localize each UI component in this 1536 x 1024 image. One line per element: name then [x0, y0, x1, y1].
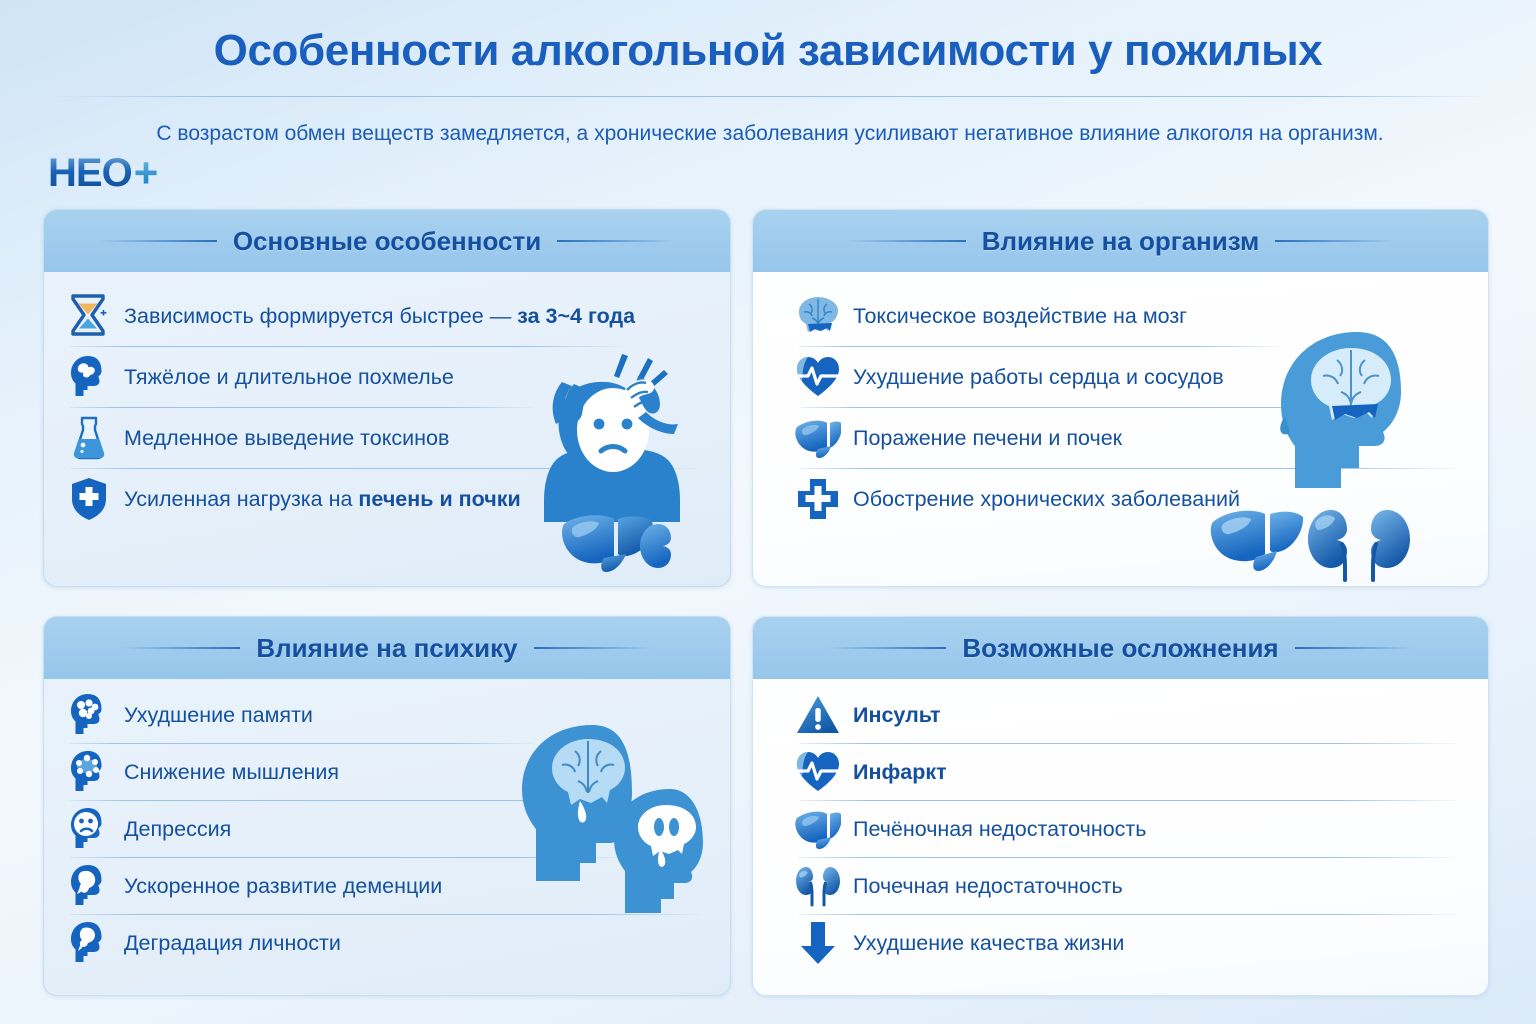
- list-item-label: Печёночная недостаточность: [853, 817, 1146, 842]
- header-rule-right: [534, 647, 652, 649]
- list-item[interactable]: Ускоренное развитие деменции: [66, 858, 708, 914]
- liver-icon: [795, 415, 841, 461]
- list-item[interactable]: Поражение печени и почек: [795, 408, 1466, 468]
- list-item-label: Тяжёлое и длительное похмелье: [124, 365, 454, 390]
- list-item-label: Токсическое воздействие на мозг: [853, 304, 1187, 329]
- list-item-label: Усиленная нагрузка на печень и почки: [124, 487, 521, 512]
- card-title: Возможные осложнения: [962, 633, 1278, 664]
- head-thinking-icon: [66, 749, 112, 795]
- header-rule-left: [848, 240, 966, 242]
- logo-plus-icon: +: [134, 152, 159, 194]
- list-item-label: Ухудшение работы сердца и сосудов: [853, 365, 1224, 390]
- card-header: Влияние на организм: [753, 210, 1488, 272]
- card-vozmozhnye-oslozhneniya: Возможные осложнения: [752, 616, 1489, 996]
- brain-icon: [795, 293, 841, 339]
- list-item[interactable]: Инфаркт: [795, 744, 1466, 800]
- list-item[interactable]: Усиленная нагрузка на печень и почки: [66, 469, 708, 529]
- list-item-label: Инсульт: [853, 703, 941, 728]
- title-divider: [48, 96, 1488, 97]
- card-vliyanie-na-psihiku: Влияние на психику Ухудшение памяти: [43, 616, 731, 996]
- head-dementia-icon: [66, 863, 112, 909]
- logo-text: HEO: [48, 153, 132, 193]
- header-rule-right: [1275, 240, 1393, 242]
- list-item-label: Ускоренное развитие деменции: [124, 874, 442, 899]
- card-title: Влияние на психику: [256, 633, 517, 664]
- card-title: Влияние на организм: [982, 226, 1259, 257]
- card-title: Основные особенности: [233, 226, 541, 257]
- header-rule-left: [99, 240, 217, 242]
- list-item-label: Поражение печени и почек: [853, 426, 1122, 451]
- list-item-label: Медленное выведение токсинов: [124, 426, 449, 451]
- card-vliyanie-na-organizm: Влияние на организм Токсическо: [752, 209, 1489, 587]
- head-degradation-icon: [66, 920, 112, 966]
- list-item[interactable]: Инсульт: [795, 687, 1466, 743]
- list-item-label: Обострение хронических заболеваний: [853, 487, 1240, 512]
- header-rule-left: [122, 647, 240, 649]
- list-item[interactable]: Депрессия: [66, 801, 708, 857]
- list-item[interactable]: Токсическое воздействие на мозг: [795, 286, 1466, 346]
- down-arrow-icon: [795, 920, 841, 966]
- header-rule-left: [828, 647, 946, 649]
- header-rule-right: [557, 240, 675, 242]
- list-item[interactable]: Обострение хронических заболеваний: [795, 469, 1466, 529]
- page-title: Особенности алкогольной зависимости у по…: [0, 26, 1536, 76]
- cross-badge-icon: [795, 476, 841, 522]
- card-header: Влияние на психику: [44, 617, 730, 679]
- list-item-label: Снижение мышления: [124, 760, 339, 785]
- brand-logo: HEO +: [48, 150, 208, 196]
- list-item[interactable]: Ухудшение качества жизни: [795, 915, 1466, 971]
- head-sad-icon: [66, 806, 112, 852]
- list-item-label: Ухудшение качества жизни: [853, 931, 1124, 956]
- list-item-label: Инфаркт: [853, 760, 947, 785]
- card-body: Токсическое воздействие на мозг Ухудшени…: [753, 272, 1488, 539]
- list-item[interactable]: Печёночная недостаточность: [795, 801, 1466, 857]
- list-item-label: Почечная недостаточность: [853, 874, 1123, 899]
- heart-pulse-icon: [795, 749, 841, 795]
- warning-triangle-icon: [795, 692, 841, 738]
- list-item-label: Депрессия: [124, 817, 231, 842]
- infographic-page: Особенности алкогольной зависимости у по…: [0, 0, 1536, 1024]
- list-item[interactable]: Медленное выведение токсинов: [66, 408, 708, 468]
- kidneys-icon: [795, 863, 841, 909]
- shield-cross-icon: [66, 476, 112, 522]
- card-header: Основные особенности: [44, 210, 730, 272]
- list-item[interactable]: Ухудшение памяти: [66, 687, 708, 743]
- list-item[interactable]: Деградация личности: [66, 915, 708, 971]
- hourglass-icon: [66, 293, 112, 339]
- list-item[interactable]: Тяжёлое и длительное похмелье: [66, 347, 708, 407]
- liver-icon: [795, 806, 841, 852]
- card-body: Ухудшение памяти Снижение мышлени: [44, 679, 730, 981]
- list-item[interactable]: Зависимость формируется быстрее — за 3~4…: [66, 286, 708, 346]
- card-body: Инсульт Инфаркт: [753, 679, 1488, 981]
- card-header: Возможные осложнения: [753, 617, 1488, 679]
- flask-icon: [66, 415, 112, 461]
- list-item[interactable]: Снижение мышления: [66, 744, 708, 800]
- card-osnovnye-osobennosti: Основные особенности Зависимость формиру…: [43, 209, 731, 587]
- list-item[interactable]: Ухудшение работы сердца и сосудов: [795, 347, 1466, 407]
- heart-pulse-icon: [795, 354, 841, 400]
- head-memory-icon: [66, 692, 112, 738]
- header-rule-right: [1295, 647, 1413, 649]
- list-item[interactable]: Почечная недостаточность: [795, 858, 1466, 914]
- list-item-label: Деградация личности: [124, 931, 341, 956]
- list-item-label: Ухудшение памяти: [124, 703, 313, 728]
- page-subtitle: С возрастом обмен веществ замедляется, а…: [150, 118, 1390, 151]
- list-item-label: Зависимость формируется быстрее — за 3~4…: [124, 304, 635, 329]
- head-hangover-icon: [66, 354, 112, 400]
- card-body: Зависимость формируется быстрее — за 3~4…: [44, 272, 730, 539]
